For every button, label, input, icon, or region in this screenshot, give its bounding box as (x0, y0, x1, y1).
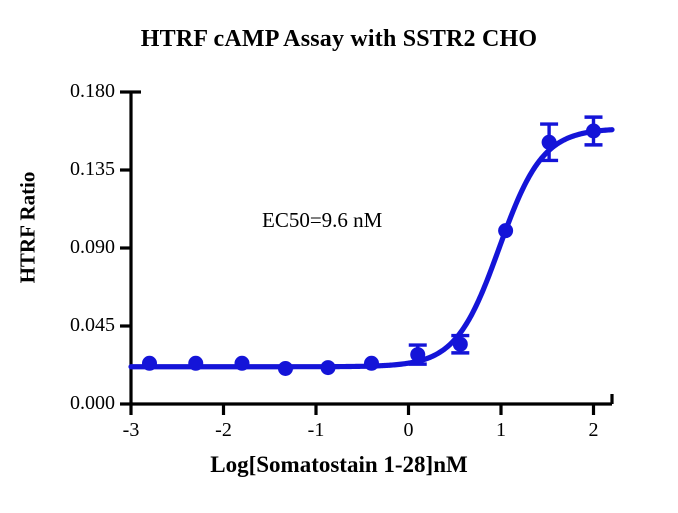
plot-area (0, 0, 678, 513)
chart-figure: HTRF cAMP Assay with SSTR2 CHO HTRF Rati… (0, 0, 678, 513)
data-point-8 (498, 223, 513, 238)
data-point-9 (542, 135, 557, 150)
data-point-4 (321, 360, 336, 375)
data-point-7 (453, 337, 468, 352)
data-point-10 (586, 124, 601, 139)
data-point-0 (142, 356, 157, 371)
data-point-2 (235, 356, 250, 371)
data-point-6 (410, 347, 425, 362)
data-points (142, 124, 601, 376)
fit-curve (131, 130, 612, 367)
sigmoid-fit-line (131, 130, 612, 367)
data-point-1 (188, 356, 203, 371)
data-point-3 (278, 361, 293, 376)
error-bars (409, 117, 603, 364)
data-point-5 (364, 356, 379, 371)
